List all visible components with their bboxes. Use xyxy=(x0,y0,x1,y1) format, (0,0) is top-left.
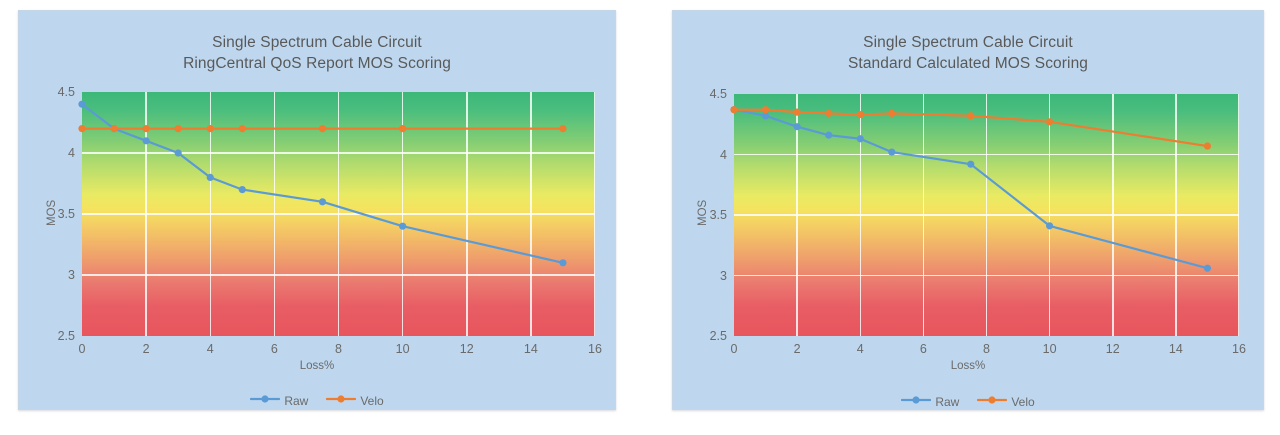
series-line-raw xyxy=(734,110,1207,269)
data-point-raw[interactable] xyxy=(399,223,406,230)
data-point-velo[interactable] xyxy=(730,106,737,113)
data-point-velo[interactable] xyxy=(762,106,769,113)
x-axis-tick-label: 6 xyxy=(271,342,278,356)
data-point-velo[interactable] xyxy=(857,111,864,118)
y-axis-tick-label: 3.5 xyxy=(710,208,727,222)
data-point-velo[interactable] xyxy=(319,125,326,132)
x-axis-tick-label: 6 xyxy=(920,342,927,356)
x-axis-tick-label: 8 xyxy=(335,342,342,356)
plot-wrapper: 2.533.544.50246810121416 xyxy=(82,92,595,336)
legend-marker-icon xyxy=(326,392,356,410)
legend-marker-icon xyxy=(250,392,280,410)
chart-panel-ringcentral-qos[interactable]: Single Spectrum Cable Circuit RingCentra… xyxy=(18,10,616,410)
y-axis-tick-label: 4.5 xyxy=(58,85,75,99)
y-axis-title: MOS xyxy=(46,200,58,226)
legend-label: Raw xyxy=(284,394,308,408)
data-point-raw[interactable] xyxy=(175,149,182,156)
legend-marker-icon xyxy=(901,393,931,411)
legend-label: Velo xyxy=(360,394,383,408)
y-axis-tick-label: 3.5 xyxy=(58,207,75,221)
legend-marker-icon xyxy=(977,393,1007,411)
data-point-velo[interactable] xyxy=(175,125,182,132)
x-axis-tick-label: 12 xyxy=(1106,342,1120,356)
data-point-raw[interactable] xyxy=(967,161,974,168)
chart-page: Single Spectrum Cable Circuit RingCentra… xyxy=(0,0,1280,435)
data-point-raw[interactable] xyxy=(239,186,246,193)
data-point-raw[interactable] xyxy=(1204,265,1211,272)
data-point-raw[interactable] xyxy=(794,123,801,130)
legend-label: Velo xyxy=(1011,395,1034,409)
y-axis-title: MOS xyxy=(697,200,709,226)
legend-item-raw[interactable]: Raw xyxy=(250,392,308,410)
data-point-velo[interactable] xyxy=(888,110,895,117)
chart-title: Single Spectrum Cable Circuit Standard C… xyxy=(673,32,1263,74)
data-point-velo[interactable] xyxy=(1046,118,1053,125)
x-axis-tick-label: 16 xyxy=(588,342,602,356)
x-axis-tick-label: 0 xyxy=(79,342,86,356)
x-axis-tick-label: 10 xyxy=(1043,342,1057,356)
plot-wrapper: 2.533.544.50246810121416 xyxy=(734,94,1239,336)
data-point-raw[interactable] xyxy=(888,148,895,155)
data-point-raw[interactable] xyxy=(143,137,150,144)
data-point-velo[interactable] xyxy=(207,125,214,132)
data-point-velo[interactable] xyxy=(559,125,566,132)
y-axis-tick-label: 4 xyxy=(720,148,727,162)
y-axis-tick-label: 4 xyxy=(68,146,75,160)
data-point-raw[interactable] xyxy=(207,174,214,181)
chart-panel-standard-calculated[interactable]: Single Spectrum Cable Circuit Standard C… xyxy=(672,10,1264,410)
chart-title: Single Spectrum Cable Circuit RingCentra… xyxy=(19,32,615,74)
legend-label: Raw xyxy=(935,395,959,409)
data-point-raw[interactable] xyxy=(857,135,864,142)
x-axis-title: Loss% xyxy=(19,360,615,372)
data-point-velo[interactable] xyxy=(794,109,801,116)
data-point-raw[interactable] xyxy=(1046,222,1053,229)
y-axis-tick-label: 3 xyxy=(720,269,727,283)
x-axis-tick-label: 4 xyxy=(207,342,214,356)
x-axis-tick-label: 8 xyxy=(983,342,990,356)
x-axis-tick-label: 10 xyxy=(396,342,410,356)
y-axis-tick-label: 4.5 xyxy=(710,87,727,101)
data-point-raw[interactable] xyxy=(319,198,326,205)
data-point-velo[interactable] xyxy=(1204,142,1211,149)
chart-title-line2: Standard Calculated MOS Scoring xyxy=(673,53,1263,74)
y-axis-tick-label: 2.5 xyxy=(710,329,727,343)
data-point-raw[interactable] xyxy=(559,259,566,266)
chart-legend: RawVelo xyxy=(673,393,1263,411)
x-axis-tick-label: 14 xyxy=(1169,342,1183,356)
data-point-velo[interactable] xyxy=(78,125,85,132)
x-axis-tick-label: 4 xyxy=(857,342,864,356)
x-axis-title: Loss% xyxy=(673,360,1263,372)
x-axis-tick-label: 14 xyxy=(524,342,538,356)
x-axis-tick-label: 16 xyxy=(1232,342,1246,356)
data-point-raw[interactable] xyxy=(78,101,85,108)
data-point-velo[interactable] xyxy=(825,110,832,117)
legend-item-raw[interactable]: Raw xyxy=(901,393,959,411)
data-point-velo[interactable] xyxy=(239,125,246,132)
data-point-velo[interactable] xyxy=(110,125,117,132)
data-point-velo[interactable] xyxy=(399,125,406,132)
legend-item-velo[interactable]: Velo xyxy=(977,393,1034,411)
x-axis-tick-label: 2 xyxy=(143,342,150,356)
data-point-velo[interactable] xyxy=(143,125,150,132)
y-axis-tick-label: 3 xyxy=(68,268,75,282)
series-layer xyxy=(82,92,595,336)
x-axis-tick-label: 0 xyxy=(731,342,738,356)
legend-item-velo[interactable]: Velo xyxy=(326,392,383,410)
data-point-velo[interactable] xyxy=(967,112,974,119)
chart-title-line1: Single Spectrum Cable Circuit xyxy=(863,34,1073,51)
x-axis-tick-label: 2 xyxy=(794,342,801,356)
x-axis-tick-label: 12 xyxy=(460,342,474,356)
data-point-raw[interactable] xyxy=(825,132,832,139)
chart-title-line1: Single Spectrum Cable Circuit xyxy=(212,34,422,51)
series-layer xyxy=(734,94,1239,336)
chart-title-line2: RingCentral QoS Report MOS Scoring xyxy=(19,53,615,74)
chart-legend: RawVelo xyxy=(19,392,615,410)
y-axis-tick-label: 2.5 xyxy=(58,329,75,343)
